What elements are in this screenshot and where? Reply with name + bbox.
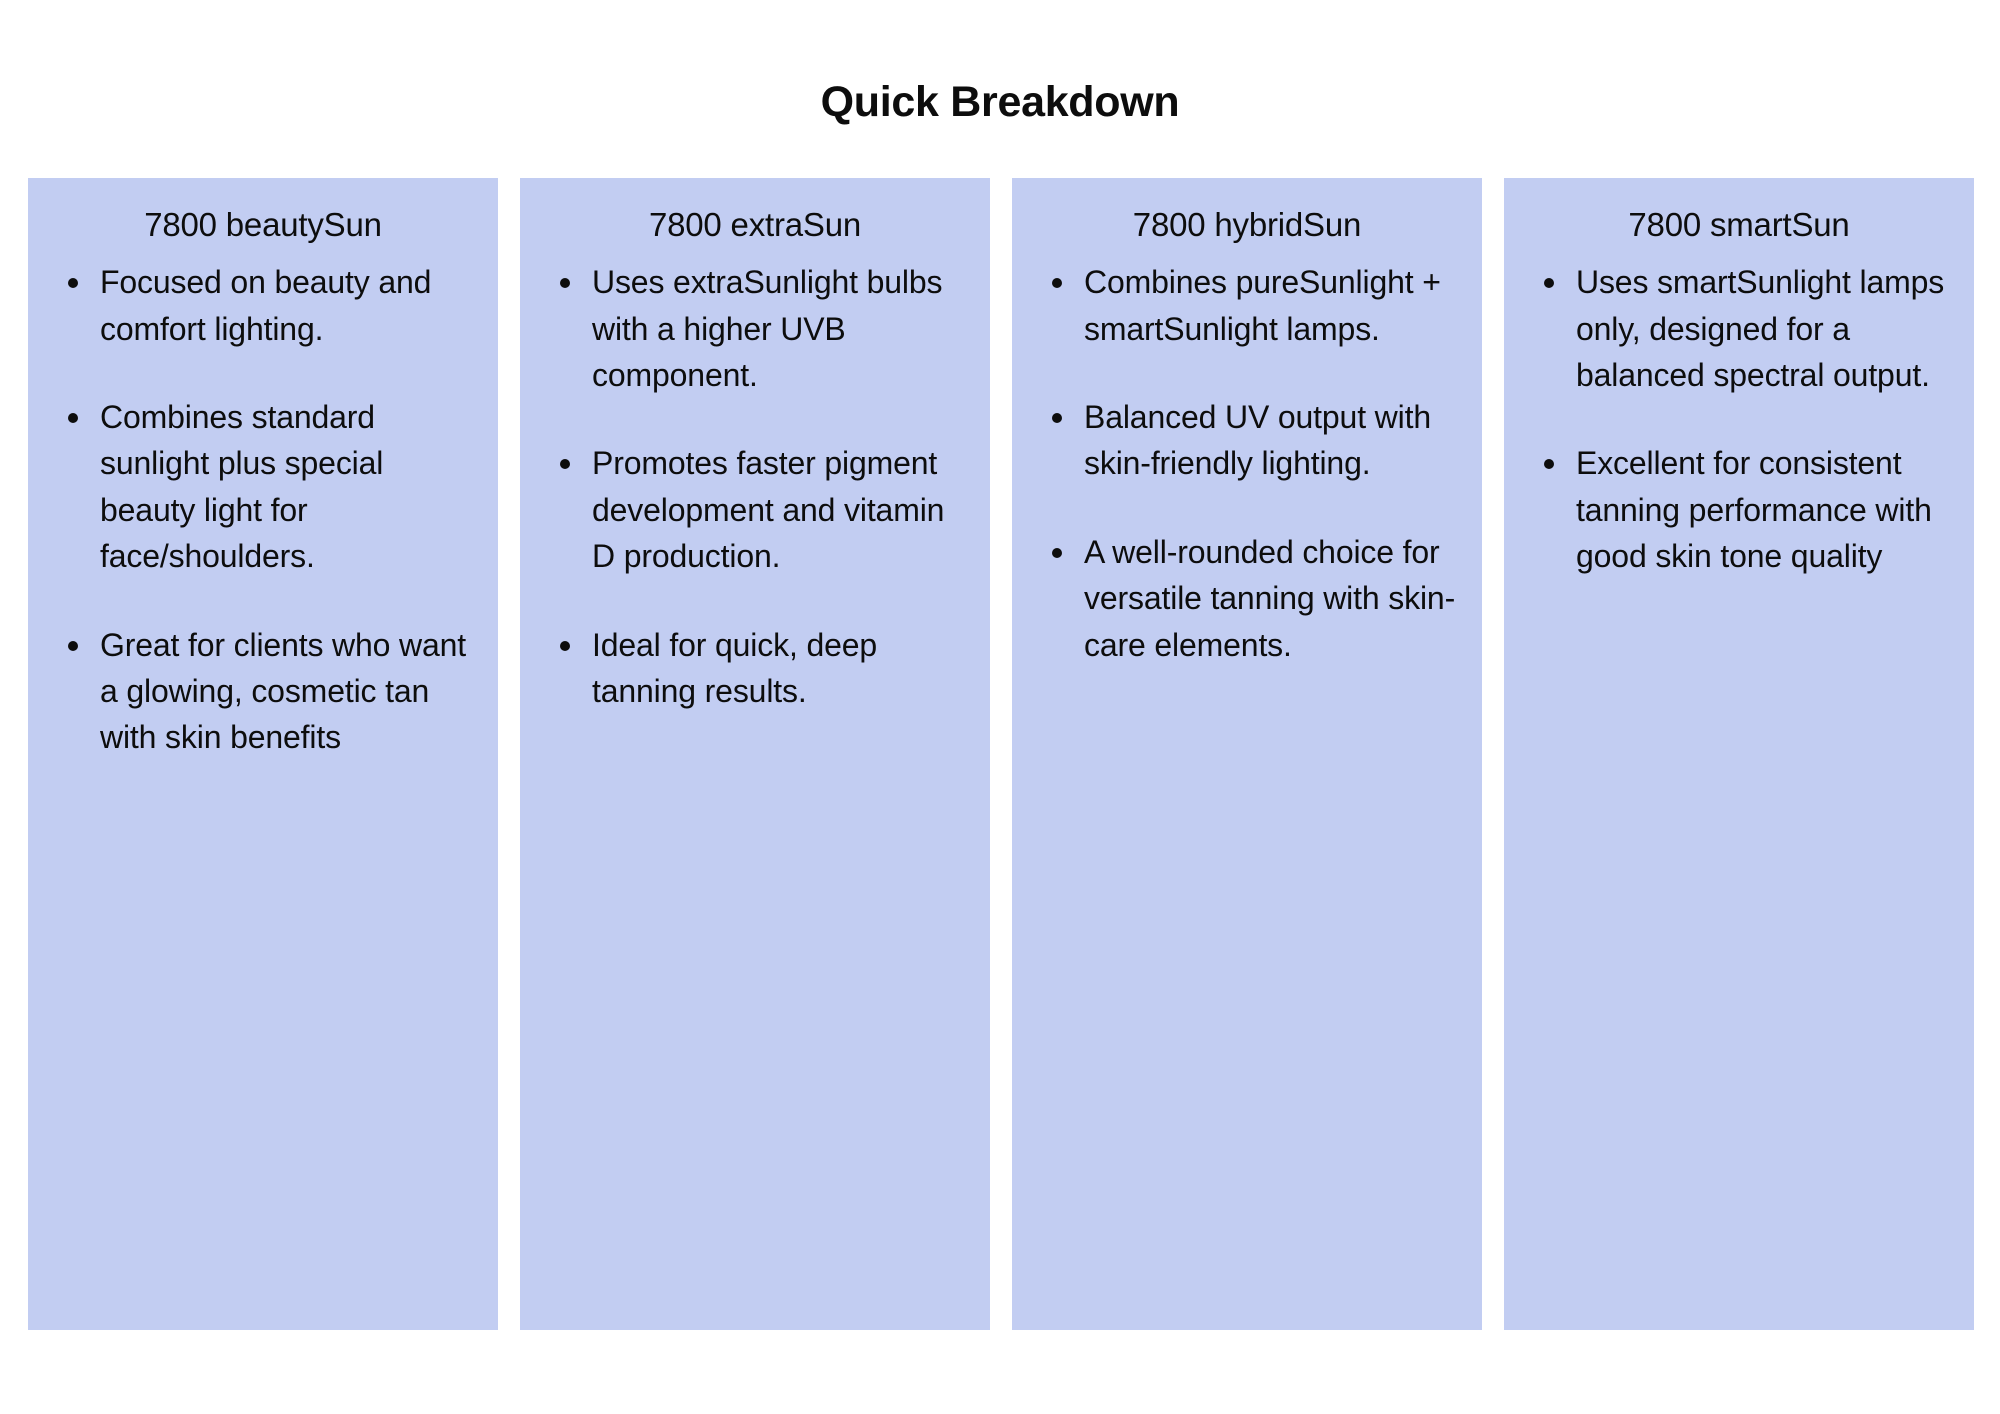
product-card-beautysun: 7800 beautySun Focused on beauty and com… — [28, 178, 498, 1330]
list-item: Ideal for quick, deep tanning results. — [550, 622, 968, 715]
list-item: Balanced UV output with skin-friendly li… — [1042, 394, 1460, 487]
feature-list: Uses smartSunlight lamps only, designed … — [1516, 259, 1962, 579]
list-item: Excellent for consistent tanning perform… — [1534, 440, 1952, 579]
list-item: Combines standard sunlight plus special … — [58, 394, 476, 580]
list-item: A well-rounded choice for versatile tann… — [1042, 529, 1460, 668]
feature-list: Focused on beauty and comfort lighting. … — [40, 259, 486, 761]
list-item: Great for clients who want a glowing, co… — [58, 622, 476, 761]
list-item: Focused on beauty and comfort lighting. — [58, 259, 476, 352]
product-card-extrasun: 7800 extraSun Uses extraSunlight bulbs w… — [520, 178, 990, 1330]
product-card-hybridsun: 7800 hybridSun Combines pureSunlight + s… — [1012, 178, 1482, 1330]
card-title: 7800 hybridSun — [1024, 204, 1470, 245]
list-item: Promotes faster pigment development and … — [550, 440, 968, 579]
card-title: 7800 beautySun — [40, 204, 486, 245]
product-card-row: 7800 beautySun Focused on beauty and com… — [28, 178, 1974, 1330]
product-card-smartsun: 7800 smartSun Uses smartSunlight lamps o… — [1504, 178, 1974, 1330]
feature-list: Uses extraSunlight bulbs with a higher U… — [532, 259, 978, 714]
card-title: 7800 extraSun — [532, 204, 978, 245]
page-title: Quick Breakdown — [0, 78, 2000, 127]
card-title: 7800 smartSun — [1516, 204, 1962, 245]
list-item: Uses extraSunlight bulbs with a higher U… — [550, 259, 968, 398]
feature-list: Combines pureSunlight + smartSunlight la… — [1024, 259, 1470, 668]
comparison-page: Quick Breakdown 7800 beautySun Focused o… — [0, 0, 2000, 1414]
list-item: Uses smartSunlight lamps only, designed … — [1534, 259, 1952, 398]
list-item: Combines pureSunlight + smartSunlight la… — [1042, 259, 1460, 352]
